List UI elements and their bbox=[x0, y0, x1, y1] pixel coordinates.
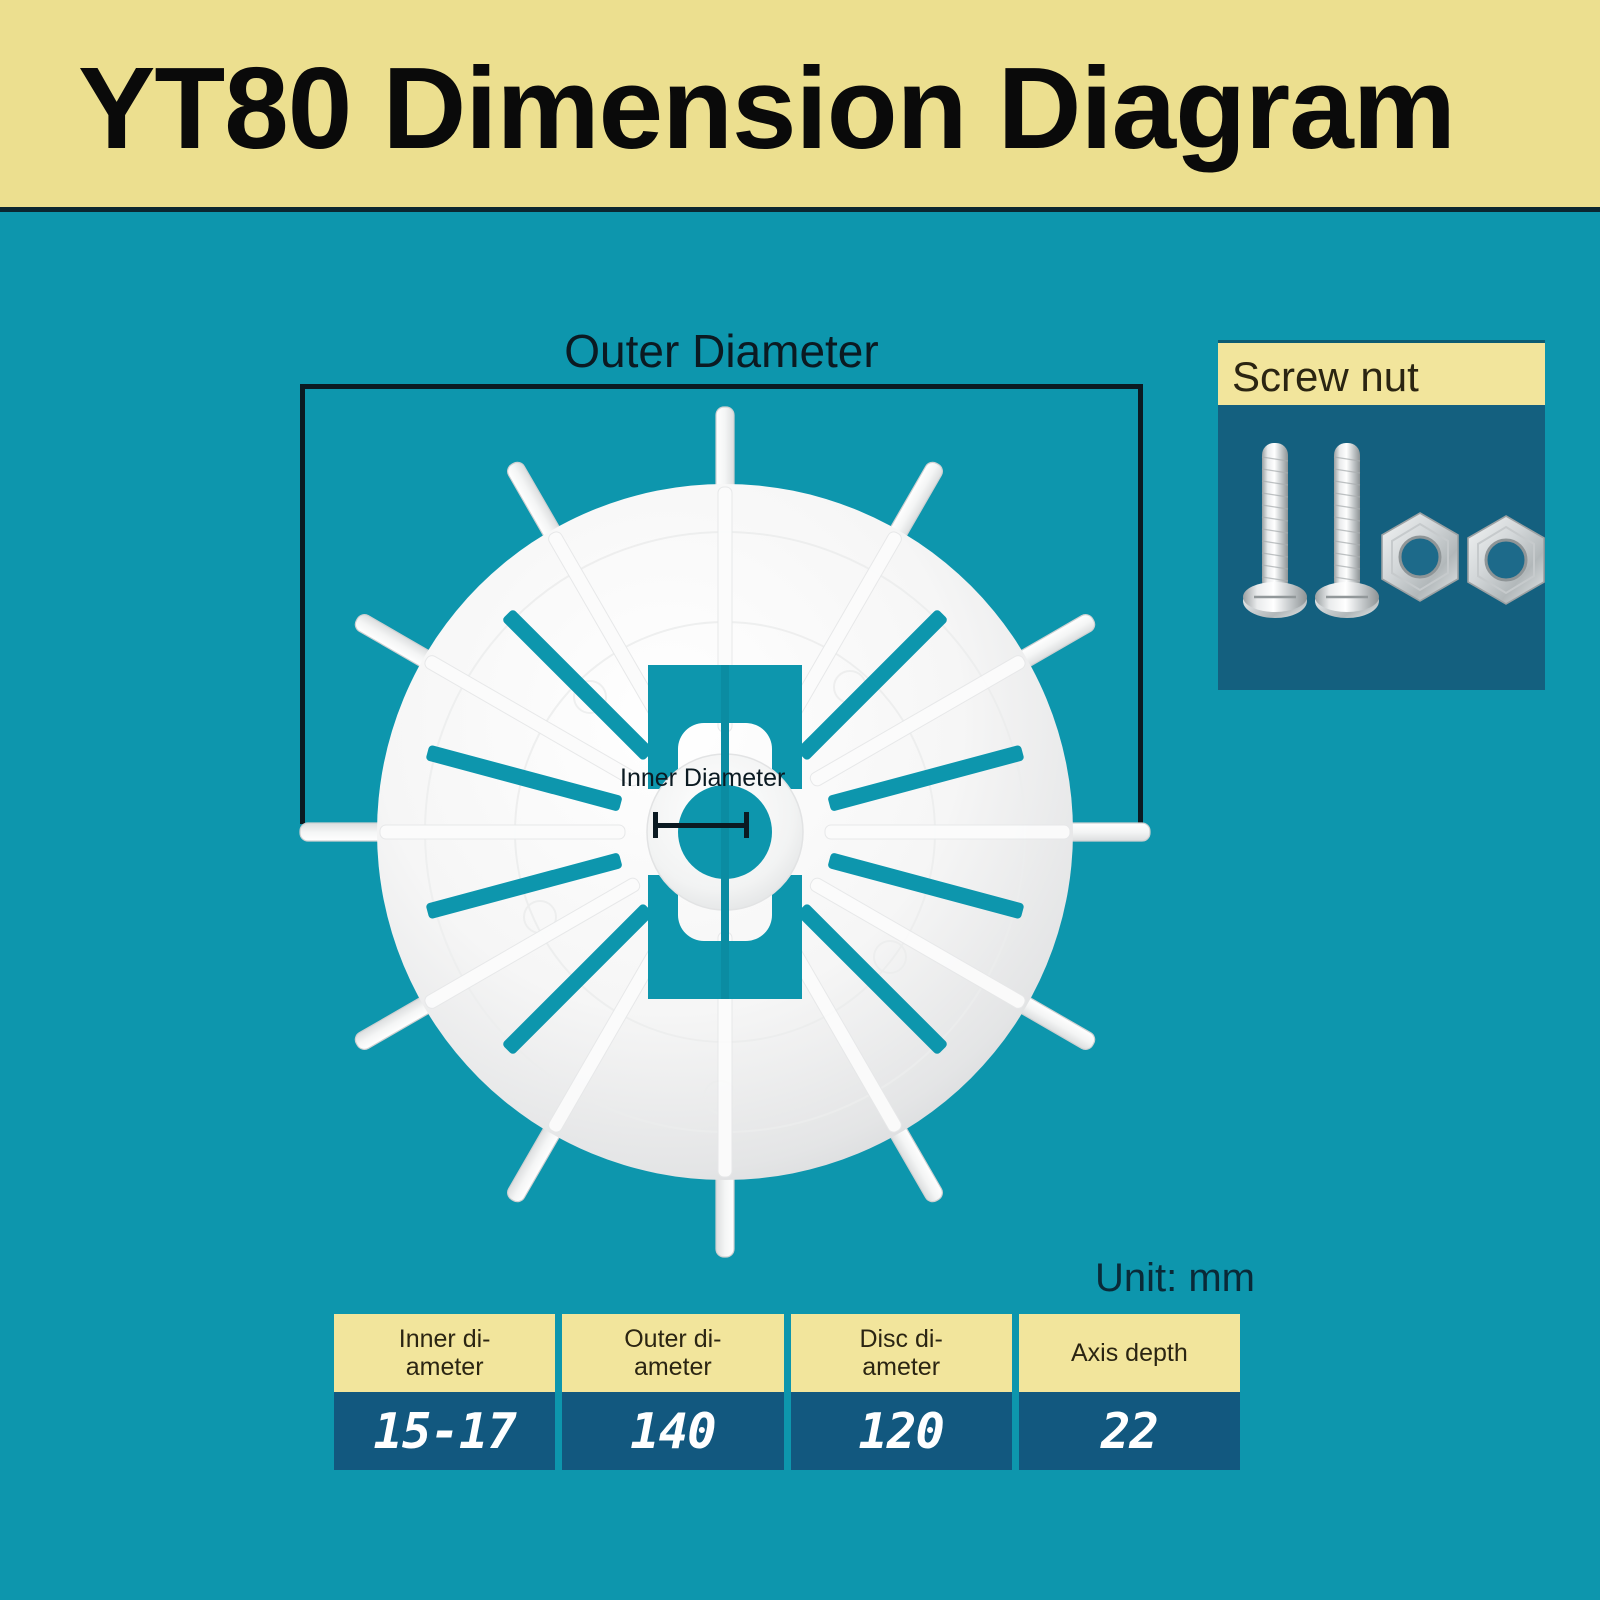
spec-value-cell: 140 bbox=[562, 1392, 783, 1470]
specification-table: Inner di-ameter 15-17 Outer di-ameter 14… bbox=[334, 1314, 1240, 1470]
screw-icon bbox=[1243, 443, 1307, 618]
screw-nut-panel: Screw nut bbox=[1190, 340, 1545, 690]
spec-column: Inner di-ameter 15-17 bbox=[334, 1314, 555, 1470]
screw-icon bbox=[1315, 443, 1379, 618]
inner-diameter-dimension-bracket bbox=[653, 812, 749, 838]
title-banner: YT80 Dimension Diagram bbox=[0, 0, 1600, 212]
dimension-line-horizontal bbox=[300, 384, 1143, 389]
page-title: YT80 Dimension Diagram bbox=[78, 50, 1455, 166]
screw-nut-title: Screw nut bbox=[1232, 353, 1419, 401]
spec-header-cell: Inner di-ameter bbox=[334, 1314, 555, 1392]
hex-nut-icon bbox=[1382, 513, 1458, 601]
spec-column: Outer di-ameter 140 bbox=[562, 1314, 783, 1470]
spec-column: Disc di-ameter 120 bbox=[791, 1314, 1012, 1470]
inner-dimension-cap-right bbox=[744, 812, 749, 838]
hex-nut-icon bbox=[1468, 516, 1544, 604]
screw-nut-panel-header: Screw nut bbox=[1218, 340, 1545, 405]
spec-header-cell: Outer di-ameter bbox=[562, 1314, 783, 1392]
outer-diameter-label: Outer Diameter bbox=[300, 324, 1143, 378]
screw-nut-panel-body bbox=[1218, 405, 1545, 690]
spec-header-cell: Axis depth bbox=[1019, 1314, 1240, 1392]
spec-header-cell: Disc di-ameter bbox=[791, 1314, 1012, 1392]
spec-column: Axis depth 22 bbox=[1019, 1314, 1240, 1470]
spec-value-cell: 15-17 bbox=[334, 1392, 555, 1470]
inner-dimension-line bbox=[653, 823, 749, 828]
spec-value-cell: 22 bbox=[1019, 1392, 1240, 1470]
inner-diameter-label: Inner Diameter bbox=[620, 764, 785, 793]
spec-value-cell: 120 bbox=[791, 1392, 1012, 1470]
diagram-stage: Outer Diameter bbox=[0, 212, 1600, 1600]
inner-dimension-cap-left bbox=[653, 812, 658, 838]
unit-note: Unit: mm bbox=[1095, 1256, 1255, 1301]
screw-nut-hardware-group bbox=[1218, 405, 1545, 690]
